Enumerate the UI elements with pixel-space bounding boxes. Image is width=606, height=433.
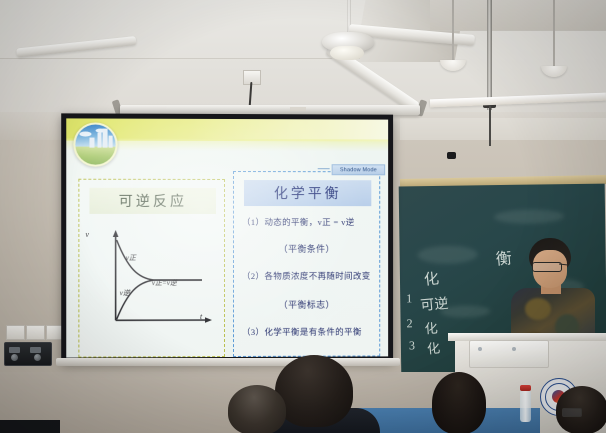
chart-y-axis-label: v [85, 230, 89, 239]
logo-ground [75, 147, 115, 165]
foreground-shadow [0, 420, 60, 433]
lamp-wire [553, 0, 555, 68]
glasses-icon [532, 262, 562, 272]
water-bottle [520, 390, 531, 422]
panel-chemical-equilibrium: Shadow Mode 化学平衡 （1）动态的平衡，v正 = v逆 （平衡条件）… [233, 171, 380, 357]
panel-reversible-reaction: 可逆反应 v t v正 v逆 v正=v逆 [78, 179, 225, 358]
equilibrium-item: （平衡条件） [234, 242, 379, 255]
ceiling-beam-secondary [430, 0, 606, 30]
ceiling-seam [0, 58, 360, 59]
projector-mount-pole [487, 0, 492, 110]
screen-roller-label [290, 107, 306, 111]
panel-display [30, 347, 41, 353]
chalk-number: 2 [406, 316, 412, 331]
laptop-hinge-dot [512, 347, 516, 351]
curve-label-forward: v正 [126, 253, 136, 263]
wall-speaker [447, 152, 456, 159]
light-switch[interactable] [6, 325, 25, 340]
equilibrium-item: （1）动态的平衡，v正 = v逆 [242, 216, 355, 228]
audience-head [228, 385, 286, 433]
slide: 可逆反应 v t v正 v逆 v正=v逆 Shadow Mode [66, 118, 388, 357]
av-control-panel[interactable] [4, 342, 52, 366]
projector-cable [489, 106, 491, 146]
glasses-icon [562, 408, 582, 417]
badge-leader-line [318, 168, 330, 169]
chalk-char: 化 [423, 267, 440, 289]
bottle-cap [520, 385, 531, 391]
curve-label-reverse: v逆 [120, 288, 130, 298]
fan-light [330, 46, 364, 60]
ceiling-seam-right [430, 30, 606, 31]
chalk-word: 可逆 [420, 293, 450, 315]
screen-bottom-bar [56, 358, 400, 366]
light-switch[interactable] [26, 325, 45, 340]
chalk-number: 1 [406, 291, 412, 306]
classroom-scene: 衡 化 可逆 化 化 1 2 3 [0, 0, 606, 433]
chalk-char: 化 [426, 337, 441, 357]
panel-knob[interactable] [34, 354, 41, 361]
chart-x-axis-label: t [200, 312, 202, 321]
chalk-number: 3 [409, 338, 415, 353]
panel-right-title: 化学平衡 [244, 180, 371, 206]
laptop-hinge-dot [478, 347, 482, 351]
shadow-mode-badge[interactable]: Shadow Mode [332, 164, 386, 175]
lamp-wire [452, 0, 454, 62]
panel-knob[interactable] [11, 354, 18, 361]
equilibrium-label: v正=v逆 [152, 278, 177, 288]
chalk-char: 化 [424, 318, 438, 338]
audience-head [432, 372, 486, 433]
chalk-char: 衡 [495, 244, 513, 269]
audience-head [275, 355, 353, 427]
slide-logo [73, 122, 117, 166]
projection-screen: 可逆反应 v t v正 v逆 v正=v逆 Shadow Mode [61, 113, 393, 362]
laptop[interactable] [469, 340, 549, 368]
equilibrium-item: （平衡标志） [234, 298, 379, 311]
equilibrium-item: （3）化学平衡是有条件的平衡 [242, 326, 362, 338]
panel-display [9, 347, 20, 353]
equilibrium-item: （2）各物质浓度不再随时间改变 [242, 270, 371, 282]
panel-left-title: 可逆反应 [89, 188, 216, 214]
